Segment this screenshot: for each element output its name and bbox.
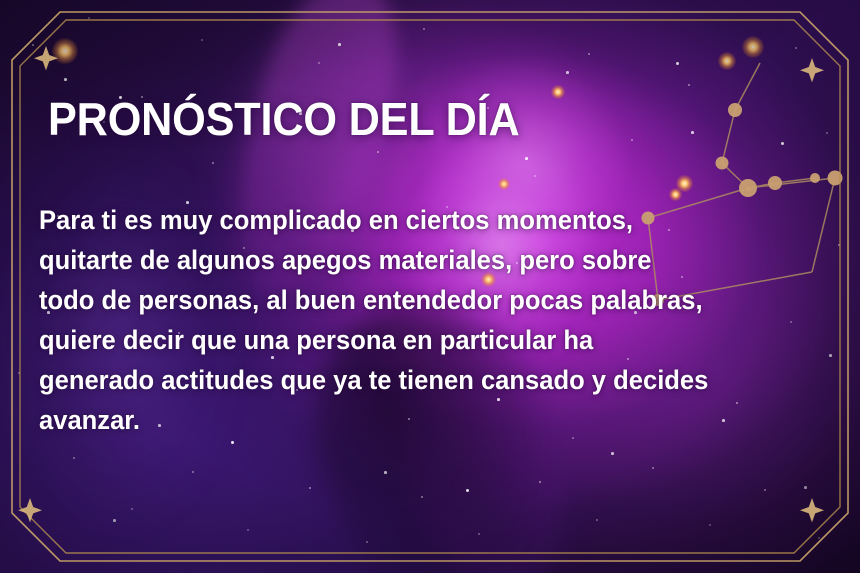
forecast-line: avanzar. (39, 400, 772, 440)
forecast-body: Para ti es muy complicado en ciertos mom… (39, 200, 799, 440)
page-title: PRONÓSTICO DEL DÍA (48, 93, 519, 145)
forecast-line: quiere decir que una persona en particul… (39, 320, 772, 360)
forecast-line: generado actitudes que ya te tienen cans… (39, 360, 772, 400)
card-content: PRONÓSTICO DEL DÍA Para ti es muy compli… (0, 0, 860, 573)
forecast-line: quitarte de algunos apegos materiales, p… (39, 240, 772, 280)
forecast-line: Para ti es muy complicado en ciertos mom… (39, 200, 772, 240)
forecast-line: todo de personas, al buen entendedor poc… (39, 280, 772, 320)
horoscope-card: PRONÓSTICO DEL DÍA Para ti es muy compli… (0, 0, 860, 573)
